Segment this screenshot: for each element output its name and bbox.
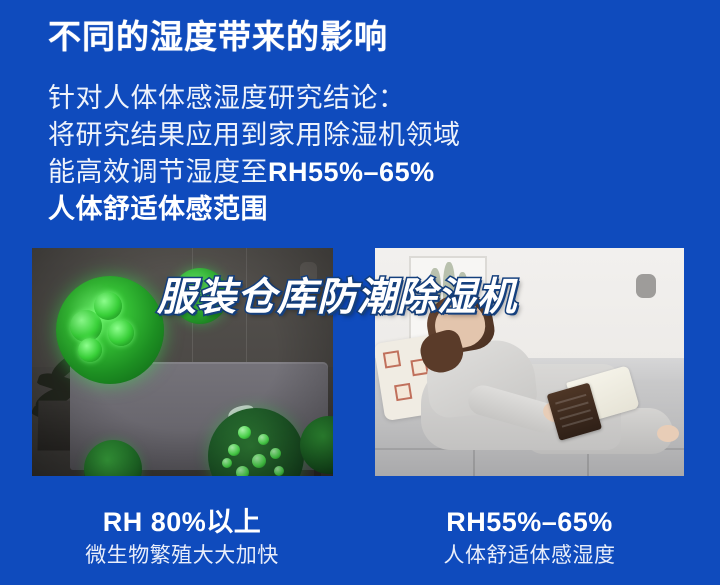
- person-foot: [657, 425, 679, 442]
- caption-right-value: RH55%–65%: [375, 506, 684, 539]
- copy-line-3: 能高效调节湿度至RH55%–65%: [48, 154, 668, 191]
- caption-left-note: 微生物繁殖大大加快: [32, 542, 332, 570]
- copy-line-4: 人体舒适体感范围: [48, 191, 668, 228]
- caption-right: RH55%–65% 人体舒适体感湿度: [375, 506, 684, 570]
- caption-right-note: 人体舒适体感湿度: [375, 542, 684, 570]
- caption-left-value: RH 80%以上: [32, 506, 332, 539]
- copy-line-2: 将研究结果应用到家用除湿机领域: [48, 117, 668, 154]
- copy-line-3-value: RH55%–65%: [268, 157, 435, 187]
- poster-root: 不同的湿度带来的影响 针对人体体感湿度研究结论： 将研究结果应用到家用除湿机领域…: [0, 0, 720, 585]
- page-title: 不同的湿度带来的影响: [48, 17, 388, 57]
- wall-speaker-icon: [636, 274, 656, 298]
- body-copy-block: 针对人体体感湿度研究结论： 将研究结果应用到家用除湿机领域 能高效调节湿度至RH…: [48, 80, 668, 228]
- copy-line-1: 针对人体体感湿度研究结论：: [48, 80, 668, 117]
- caption-left: RH 80%以上 微生物繁殖大大加快: [32, 506, 332, 570]
- overlay-product-title: 服装仓库防潮除湿机: [157, 276, 517, 320]
- copy-line-3-prefix: 能高效调节湿度至: [48, 157, 268, 187]
